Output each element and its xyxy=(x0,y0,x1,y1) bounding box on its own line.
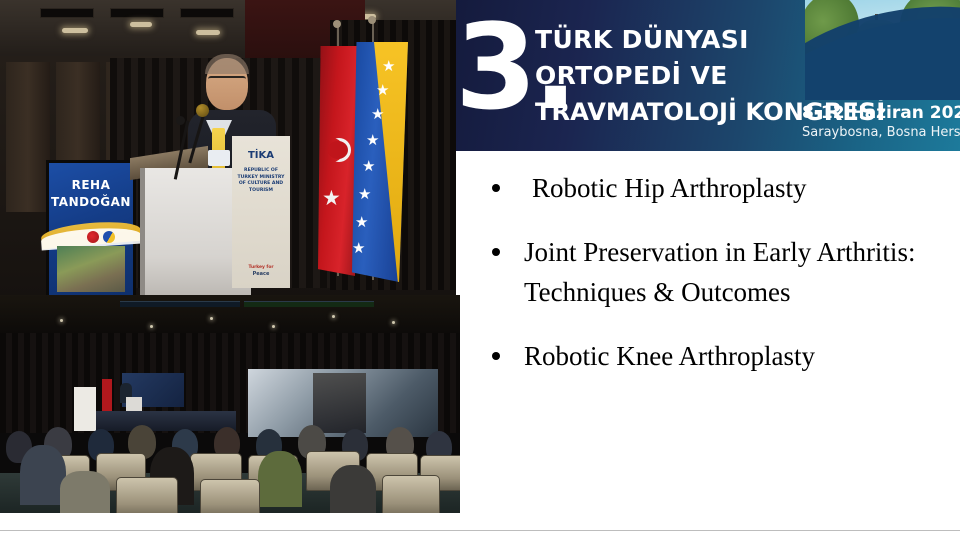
turkey-for-peace-line-2: Peace xyxy=(253,271,270,277)
bullet-text: Joint Preservation in Early Arthritis: T… xyxy=(524,237,915,307)
ceiling-light xyxy=(332,315,335,318)
banner-ordinal-number: 3. xyxy=(455,4,525,144)
list-item: Robotic Hip Arthroplasty xyxy=(470,168,940,208)
star-icon: ★ xyxy=(371,108,384,122)
slide-bullet-list: Robotic Hip Arthroplasty Joint Preservat… xyxy=(470,168,940,400)
ceiling-light xyxy=(210,317,213,320)
banner-location: Saraybosna, Bosna Hersek xyxy=(802,124,952,141)
ceiling-light xyxy=(196,30,220,35)
list-item: Robotic Knee Arthroplasty xyxy=(470,336,940,376)
wood-wall-panel xyxy=(6,62,50,212)
star-icon: ★ xyxy=(352,242,365,256)
speaker-name-badge xyxy=(208,150,230,166)
audience-member-foreground xyxy=(330,465,376,513)
ceiling-light xyxy=(130,22,152,27)
banner-title-block: TÜRK DÜNYASI ORTOPEDİ VE TRAVMATOLOJİ KO… xyxy=(535,22,825,130)
projection-screen xyxy=(248,369,438,437)
sebilj-fountain-sarajevo-photo xyxy=(805,0,960,100)
ceiling-panel xyxy=(180,8,234,18)
flagpole-finial xyxy=(368,16,376,24)
congress-banner: 3. TÜRK DÜNYASI ORTOPEDİ VE TRAVMATOLOJİ… xyxy=(450,0,960,151)
chair xyxy=(200,479,260,513)
ceiling-panel xyxy=(40,8,94,18)
star-icon: ★ xyxy=(358,188,371,202)
microphone-icon xyxy=(176,116,185,125)
turkey-flag-badge-icon xyxy=(87,231,99,243)
ceiling-light xyxy=(272,325,275,328)
ceiling-light xyxy=(62,28,88,33)
screen-city-photo xyxy=(57,246,125,292)
star-icon: ★ xyxy=(366,134,379,148)
speaker-name-line-2: TANDOĞAN xyxy=(49,194,133,211)
tika-sponsor-banner xyxy=(74,387,96,431)
bosnia-flag-badge-icon xyxy=(103,231,115,243)
bosnia-herzegovina-flag: ★ ★ ★ ★ ★ ★ ★ ★ xyxy=(352,42,408,282)
banner-date-block: 8-12 Haziran 2022 Saraybosna, Bosna Hers… xyxy=(802,103,952,141)
crescent-mask xyxy=(328,141,348,159)
bullet-dot-icon xyxy=(492,184,500,192)
tika-sponsor-banner: TİKA REPUBLIC OF TURKEY MINISTRY OF CULT… xyxy=(232,136,290,288)
ceiling-screen-strip xyxy=(120,301,240,307)
audience-member-foreground xyxy=(258,451,302,507)
bullet-dot-icon xyxy=(492,248,500,256)
projected-image xyxy=(313,373,366,433)
star-icon: ★ xyxy=(382,60,395,74)
ceiling-panel xyxy=(110,8,164,18)
eyeglasses-icon xyxy=(208,76,246,86)
head-table xyxy=(96,411,236,431)
bullet-text: Robotic Knee Arthroplasty xyxy=(524,341,815,371)
bullet-dot-icon xyxy=(492,352,500,360)
star-icon: ★ xyxy=(376,84,389,98)
tika-logo: TİKA xyxy=(232,150,290,161)
ceiling-light xyxy=(150,325,153,328)
chair xyxy=(116,477,178,513)
star-icon: ★ xyxy=(355,216,368,230)
tika-subtitle: REPUBLIC OF TURKEY MINISTRY OF CULTURE A… xyxy=(236,168,286,194)
banner-title-line-3: TRAVMATOLOJİ KONGRESİ xyxy=(535,94,825,130)
ceiling-light xyxy=(392,321,395,324)
ceiling-screen-strip xyxy=(244,301,374,307)
presentation-slide: 3. TÜRK DÜNYASI ORTOPEDİ VE TRAVMATOLOJİ… xyxy=(0,0,960,538)
star-icon: ★ xyxy=(362,160,375,174)
flagpole-finial xyxy=(333,20,341,28)
speaker-at-podium-photo: ★ ★ ★ ★ ★ ★ ★ ★ ★ REHA TANDOĞAN xyxy=(0,0,456,295)
turkey-for-peace-logo: Turkey for Peace xyxy=(232,264,290,278)
microphone-icon xyxy=(196,104,209,117)
turkey-for-peace-line-1: Turkey for xyxy=(232,264,290,271)
star-icon: ★ xyxy=(322,188,341,209)
audience-member-foreground xyxy=(60,471,110,513)
bullet-text: Robotic Hip Arthroplasty xyxy=(532,173,806,203)
banner-title-line-2: ORTOPEDİ VE xyxy=(535,58,825,94)
speaker-name-line-1: REHA xyxy=(49,177,133,194)
banner-title-line-1: TÜRK DÜNYASI xyxy=(535,22,825,58)
conference-hall-audience-photo xyxy=(0,295,460,513)
list-item: Joint Preservation in Early Arthritis: T… xyxy=(470,232,940,312)
ceiling-light xyxy=(60,319,63,322)
chair xyxy=(382,475,440,513)
speaker-name-screen: REHA TANDOĞAN xyxy=(46,160,136,295)
banner-dates: 8-12 Haziran 2022 xyxy=(802,103,952,124)
footer-divider xyxy=(0,530,960,531)
